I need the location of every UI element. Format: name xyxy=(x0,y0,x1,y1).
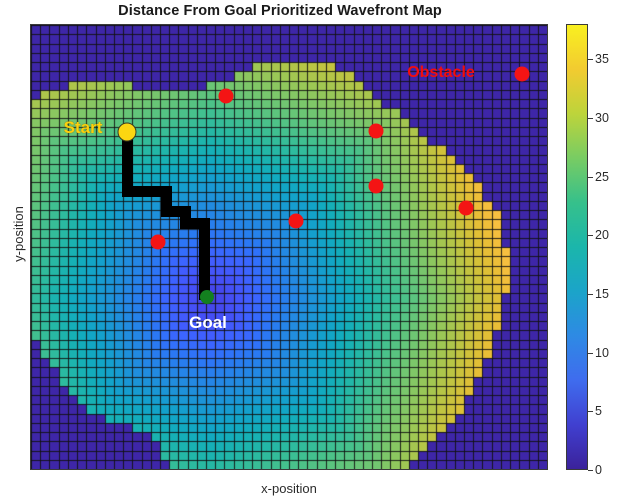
colorbar-tick-label: 0 xyxy=(595,463,602,477)
path-segment xyxy=(122,135,133,193)
colorbar-tick-label: 15 xyxy=(595,287,609,301)
colorbar[interactable] xyxy=(566,24,588,470)
colorbar-tick-label: 25 xyxy=(595,170,609,184)
colorbar-tick xyxy=(588,59,593,60)
obstacle-marker[interactable] xyxy=(369,124,384,139)
colorbar-tick-label: 20 xyxy=(595,228,609,242)
y-axis-label: y-position xyxy=(8,124,28,344)
colorbar-tick-label: 5 xyxy=(595,404,602,418)
obstacle-marker[interactable] xyxy=(219,89,234,104)
path-segment xyxy=(199,218,210,300)
obstacle-marker[interactable] xyxy=(459,201,474,216)
start-marker[interactable] xyxy=(118,123,137,142)
obstacle-marker[interactable] xyxy=(151,235,166,250)
colorbar-tick xyxy=(588,470,593,471)
colorbar-tick-label: 10 xyxy=(595,346,609,360)
wavefront-heatmap[interactable]: StartGoalObstacle xyxy=(30,24,548,470)
goal-label: Goal xyxy=(189,313,227,333)
colorbar-tick xyxy=(588,353,593,354)
colorbar-tick xyxy=(588,118,593,119)
colorbar-tick-label: 35 xyxy=(595,52,609,66)
colorbar-tick-label: 30 xyxy=(595,111,609,125)
obstacle-label: Obstacle xyxy=(407,64,475,82)
colorbar-tick xyxy=(588,294,593,295)
obstacle-marker[interactable] xyxy=(515,67,530,82)
obstacle-marker[interactable] xyxy=(289,214,304,229)
colorbar-tick xyxy=(588,235,593,236)
y-axis-label-wrapper: y-position xyxy=(0,0,1,1)
colorbar-tick xyxy=(588,411,593,412)
figure-title: Distance From Goal Prioritized Wavefront… xyxy=(0,0,560,22)
figure-root: Distance From Goal Prioritized Wavefront… xyxy=(0,0,622,504)
obstacle-marker[interactable] xyxy=(369,179,384,194)
start-label: Start xyxy=(64,118,103,138)
colorbar-tick xyxy=(588,177,593,178)
heatmap-grid-canvas xyxy=(31,25,547,469)
x-axis-label: x-position xyxy=(30,478,548,498)
goal-marker[interactable] xyxy=(200,290,214,304)
